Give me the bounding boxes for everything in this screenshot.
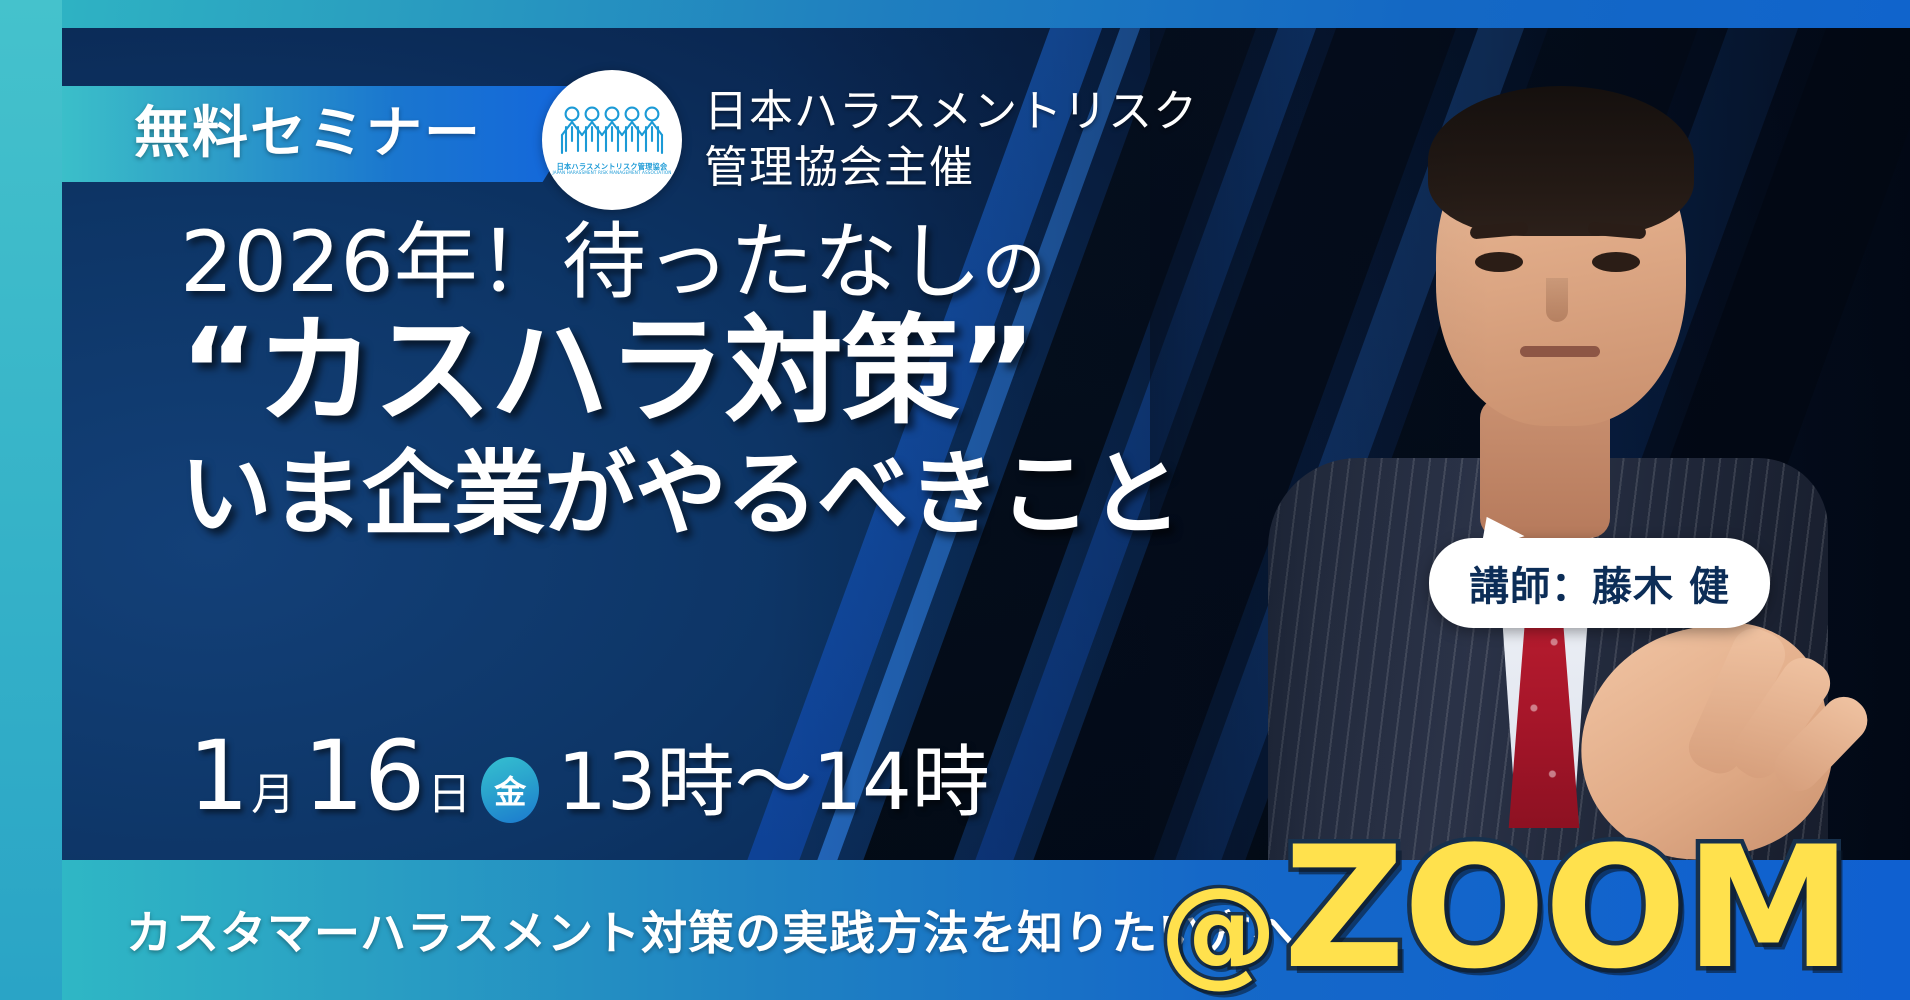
zoom-wordmark: ZOOM	[1283, 837, 1850, 980]
speaker-name-bubble: 講師：藤木 健	[1429, 538, 1770, 628]
seminar-banner: 無料セミナー	[0, 0, 1910, 1000]
weekday-badge: 金	[481, 757, 539, 823]
headline-line-1: 2026年！待ったなしの	[180, 218, 1181, 306]
organizer-block: 日本ハラスメントリスク管理協会 JAPAN HARASSMENT RISK MA…	[542, 70, 1198, 210]
free-seminar-label: 無料セミナー	[134, 106, 482, 162]
date-time-row: 1 月 16 日 金 13時～14時	[188, 728, 990, 824]
organizer-line-2: 管理協会主催	[704, 140, 1198, 196]
zoom-platform-badge: @ ZOOM	[1159, 837, 1850, 980]
month-unit: 月	[251, 773, 295, 817]
speaker-eye-right	[1592, 252, 1640, 272]
time-range: 13時～14時	[557, 744, 990, 822]
speaker-hair	[1428, 86, 1694, 236]
at-symbol: @	[1159, 880, 1277, 980]
headline-line-2: “カスハラ対策”	[180, 308, 1181, 435]
logo-jp-name: 日本ハラスメントリスク管理協会	[557, 163, 668, 170]
speaker-name-label: 講師：藤木 健	[1469, 564, 1730, 610]
headline-line-1-suffix: の	[982, 233, 1046, 307]
headline-line-3: いま企業がやるべきこと	[180, 444, 1181, 545]
day-unit: 日	[427, 773, 471, 817]
logo-en-name: JAPAN HARASSMENT RISK MANAGEMENT ASSOCIA…	[552, 171, 671, 175]
free-seminar-badge: 無料セミナー	[62, 86, 602, 182]
speaker-nose	[1546, 278, 1568, 322]
speaker-mouth	[1520, 346, 1600, 357]
month-number: 1	[188, 728, 249, 824]
tagline-text: カスタマーハラスメント対策の実践方法を知りたい方へ	[126, 897, 1299, 963]
left-accent-rail	[0, 0, 62, 1000]
organizer-text: 日本ハラスメントリスク 管理協会主催	[704, 84, 1198, 197]
association-logo: 日本ハラスメントリスク管理協会 JAPAN HARASSMENT RISK MA…	[542, 70, 682, 210]
headline-line-1-main: 2026年！待ったなし	[180, 213, 982, 311]
day-number: 16	[303, 728, 425, 824]
headline-block: 2026年！待ったなしの “カスハラ対策” いま企業がやるべきこと	[180, 218, 1181, 545]
speaker-eye-left	[1475, 252, 1523, 272]
organizer-line-1: 日本ハラスメントリスク	[704, 84, 1198, 140]
people-holding-hands-icon	[560, 105, 664, 161]
